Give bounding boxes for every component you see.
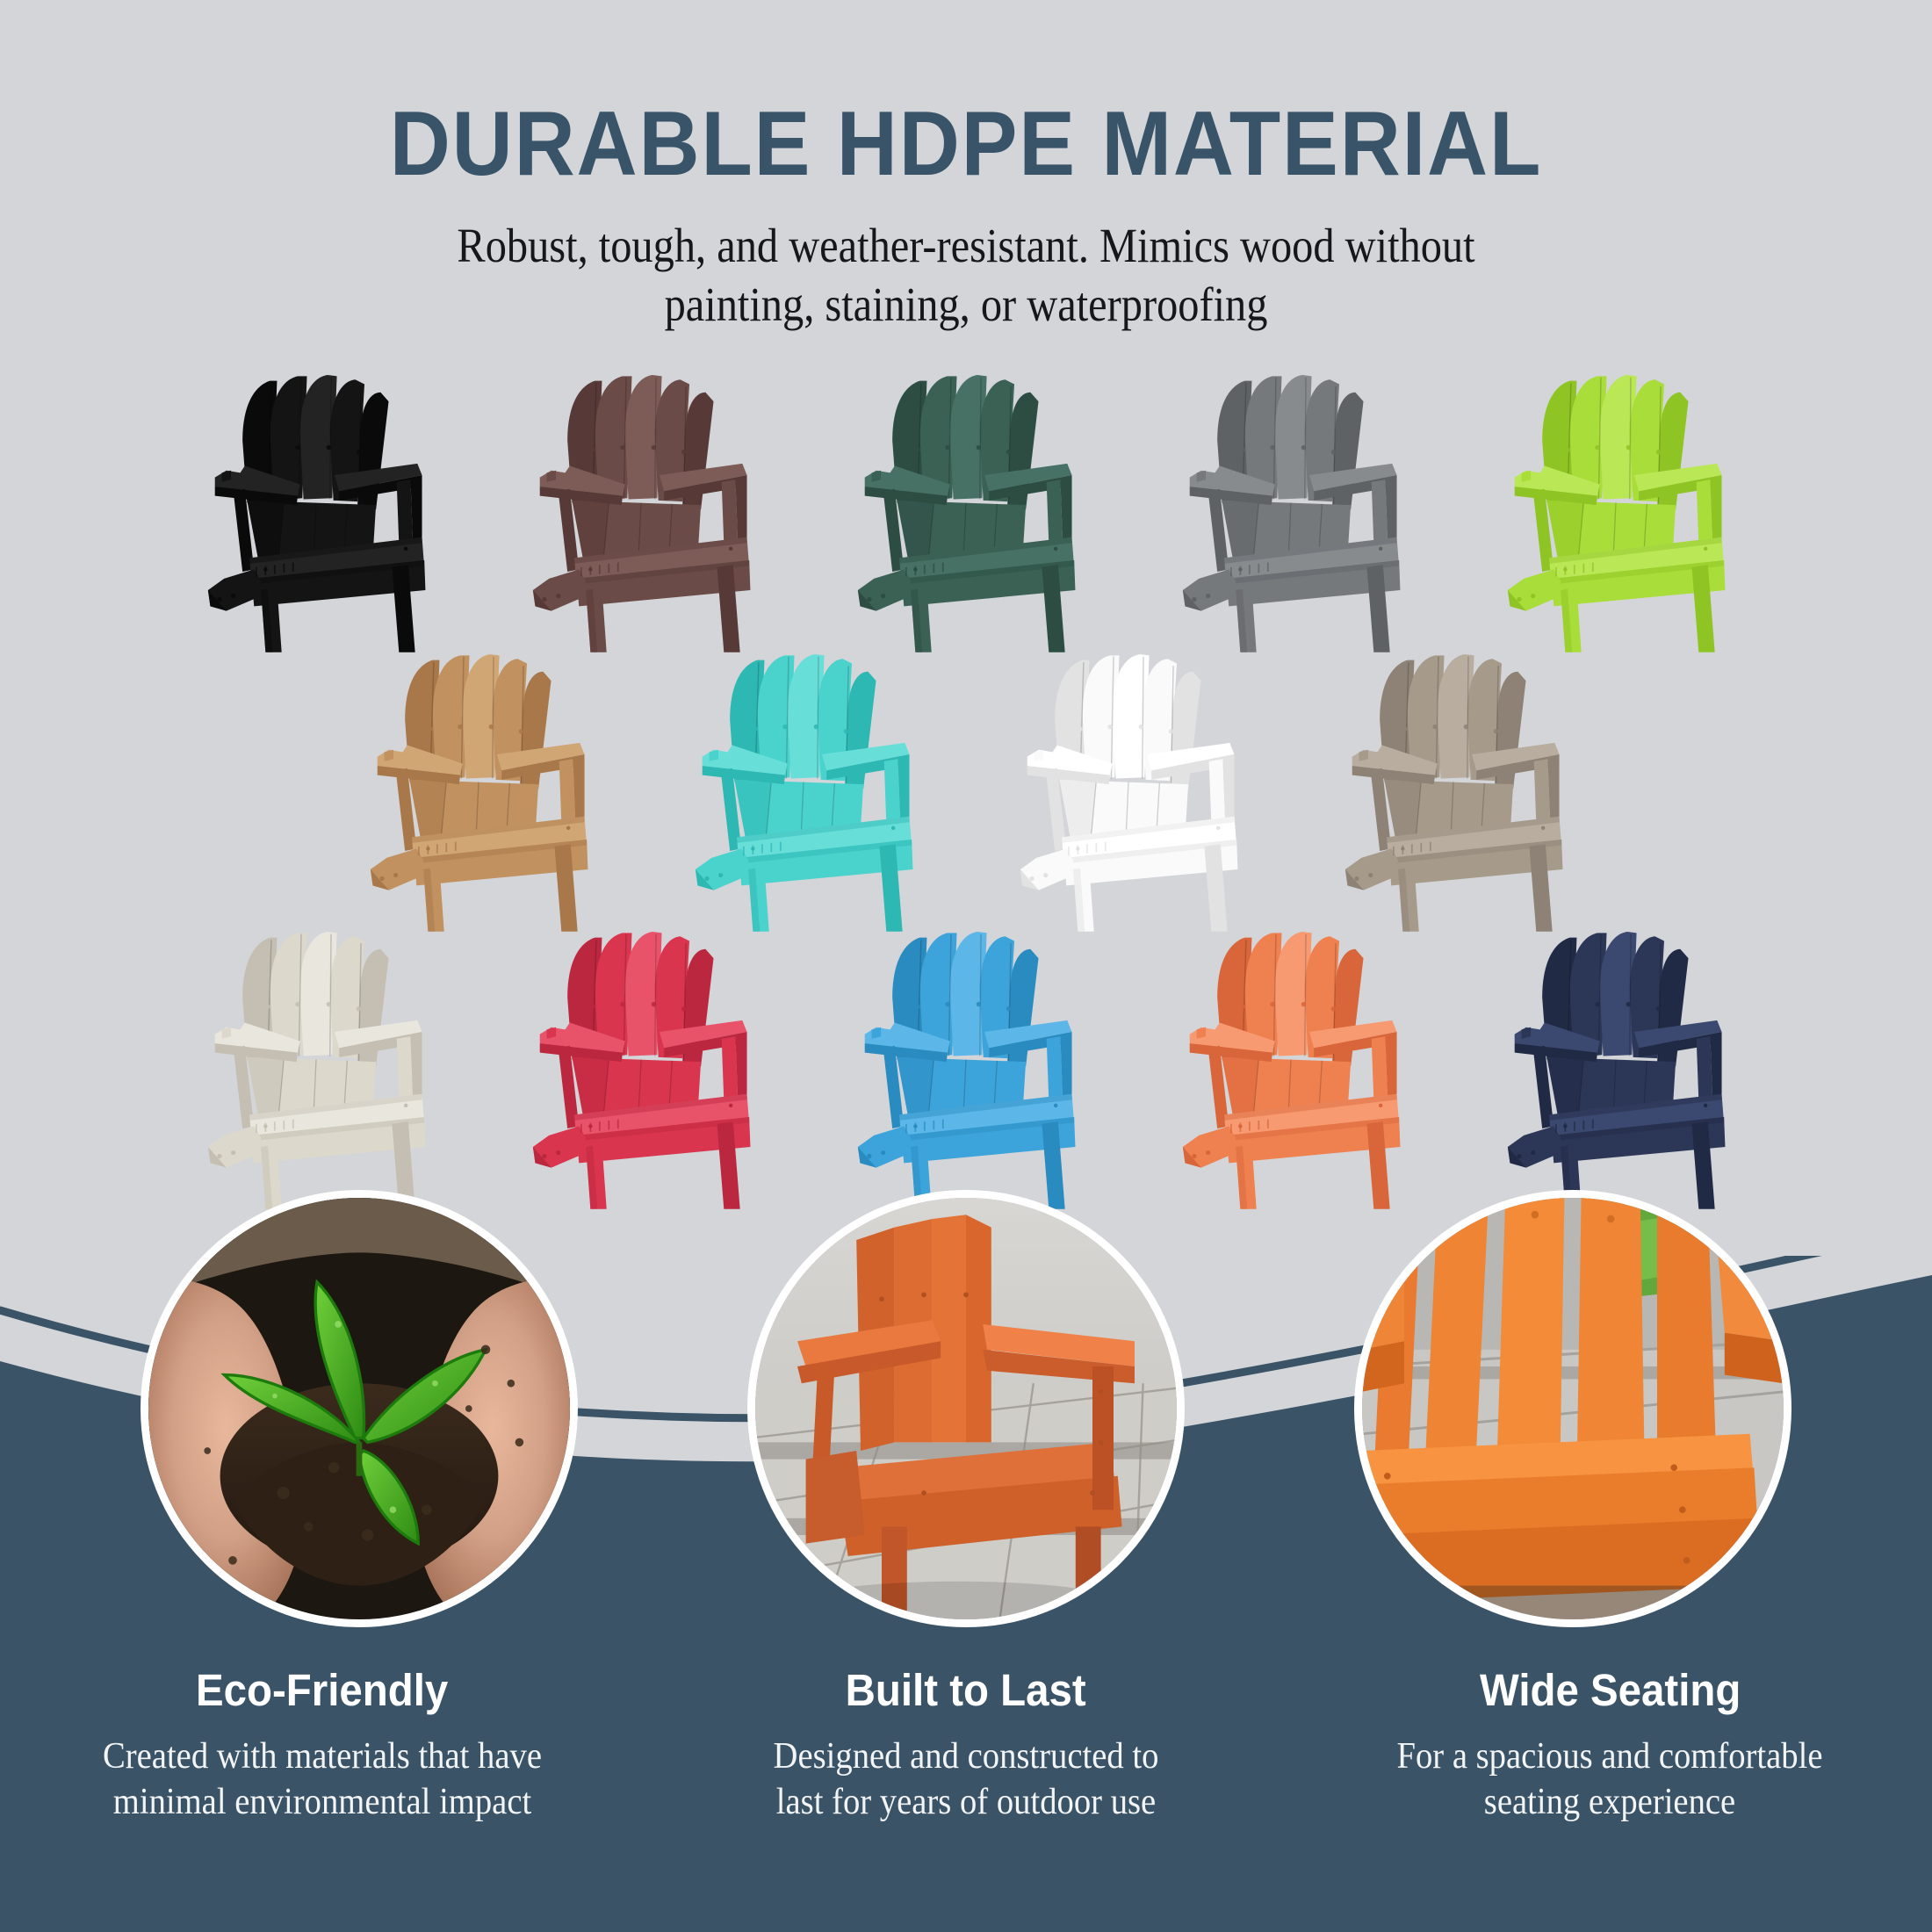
feature-title: Eco-Friendly — [23, 1664, 622, 1716]
chair-figure — [201, 364, 431, 652]
chair-row-3 — [0, 921, 1932, 1209]
chair-swatch-lime-green[interactable] — [1453, 364, 1778, 652]
header: DURABLE HDPE MATERIAL Robust, tough, and… — [0, 0, 1932, 334]
chair-swatch-teak[interactable] — [316, 644, 641, 932]
chair-swatch-turquoise[interactable] — [641, 644, 966, 932]
chair-swatch-navy-blue[interactable] — [1453, 921, 1778, 1209]
feature-body: For a spacious and comfortable seating e… — [1352, 1734, 1869, 1825]
feature-body-line-2: minimal environmental impact — [112, 1782, 530, 1822]
feature-image-wide-seating — [1354, 1190, 1791, 1627]
chair-row-2 — [0, 644, 1932, 932]
feature-text-row: Eco-Friendly Created with materials that… — [0, 1664, 1932, 1825]
page-title: DURABLE HDPE MATERIAL — [77, 0, 1855, 190]
chair-figure — [1338, 644, 1568, 932]
soil-seedling-photo — [148, 1198, 570, 1619]
feature-body-line-1: Designed and constructed to — [774, 1736, 1159, 1777]
chair-swatch-white[interactable] — [966, 644, 1291, 932]
feature-image-built-to-last — [747, 1190, 1185, 1627]
chair-color-grid — [0, 364, 1932, 1207]
feature-wide-seating: Wide Seating For a spacious and comforta… — [1288, 1664, 1932, 1825]
chair-figure — [1501, 921, 1731, 1209]
feature-image-eco-friendly — [141, 1190, 578, 1627]
infographic-canvas: DURABLE HDPE MATERIAL Robust, tough, and… — [0, 0, 1932, 1932]
chair-figure — [688, 644, 919, 932]
feature-body-line-2: last for years of outdoor use — [776, 1782, 1156, 1822]
chair-figure — [526, 364, 756, 652]
feature-body-line-1: For a spacious and comfortable — [1397, 1736, 1823, 1777]
chair-swatch-gray[interactable] — [1128, 364, 1453, 652]
feature-title: Wide Seating — [1310, 1664, 1909, 1716]
page-subtitle: Robust, tough, and weather-resistant. Mi… — [116, 190, 1816, 334]
feature-body: Designed and constructed to last for yea… — [708, 1734, 1225, 1825]
feature-image-row — [0, 1190, 1932, 1647]
orange-chair-patio-photo — [755, 1198, 1177, 1619]
feature-body-line-1: Created with materials that have — [103, 1736, 542, 1777]
feature-body-line-2: seating experience — [1484, 1782, 1735, 1822]
chair-row-1 — [0, 364, 1932, 652]
chair-figure — [1176, 921, 1406, 1209]
feature-built-to-last: Built to Last Designed and constructed t… — [644, 1664, 1287, 1825]
chair-figure — [1013, 644, 1244, 932]
chair-figure — [201, 921, 431, 1209]
chair-figure — [851, 921, 1081, 1209]
feature-title: Built to Last — [667, 1664, 1265, 1716]
feature-eco-friendly: Eco-Friendly Created with materials that… — [0, 1664, 644, 1825]
chair-swatch-dark-green[interactable] — [804, 364, 1128, 652]
chair-swatch-weathered-wood[interactable] — [1291, 644, 1616, 932]
chair-figure — [1176, 364, 1406, 652]
chair-swatch-ivory[interactable] — [154, 921, 479, 1209]
chair-swatch-orange[interactable] — [1128, 921, 1453, 1209]
chair-figure — [526, 921, 756, 1209]
feature-body: Created with materials that have minimal… — [63, 1734, 580, 1825]
wide-seat-closeup-photo — [1362, 1198, 1784, 1619]
chair-figure — [1501, 364, 1731, 652]
chair-figure — [851, 364, 1081, 652]
chair-figure — [364, 644, 594, 932]
chair-swatch-black[interactable] — [154, 364, 479, 652]
chair-swatch-blue[interactable] — [804, 921, 1128, 1209]
subtitle-line-2: painting, staining, or waterproofing — [665, 278, 1268, 331]
subtitle-line-1: Robust, tough, and weather-resistant. Mi… — [457, 219, 1474, 272]
chair-swatch-brown[interactable] — [479, 364, 804, 652]
chair-swatch-red[interactable] — [479, 921, 804, 1209]
